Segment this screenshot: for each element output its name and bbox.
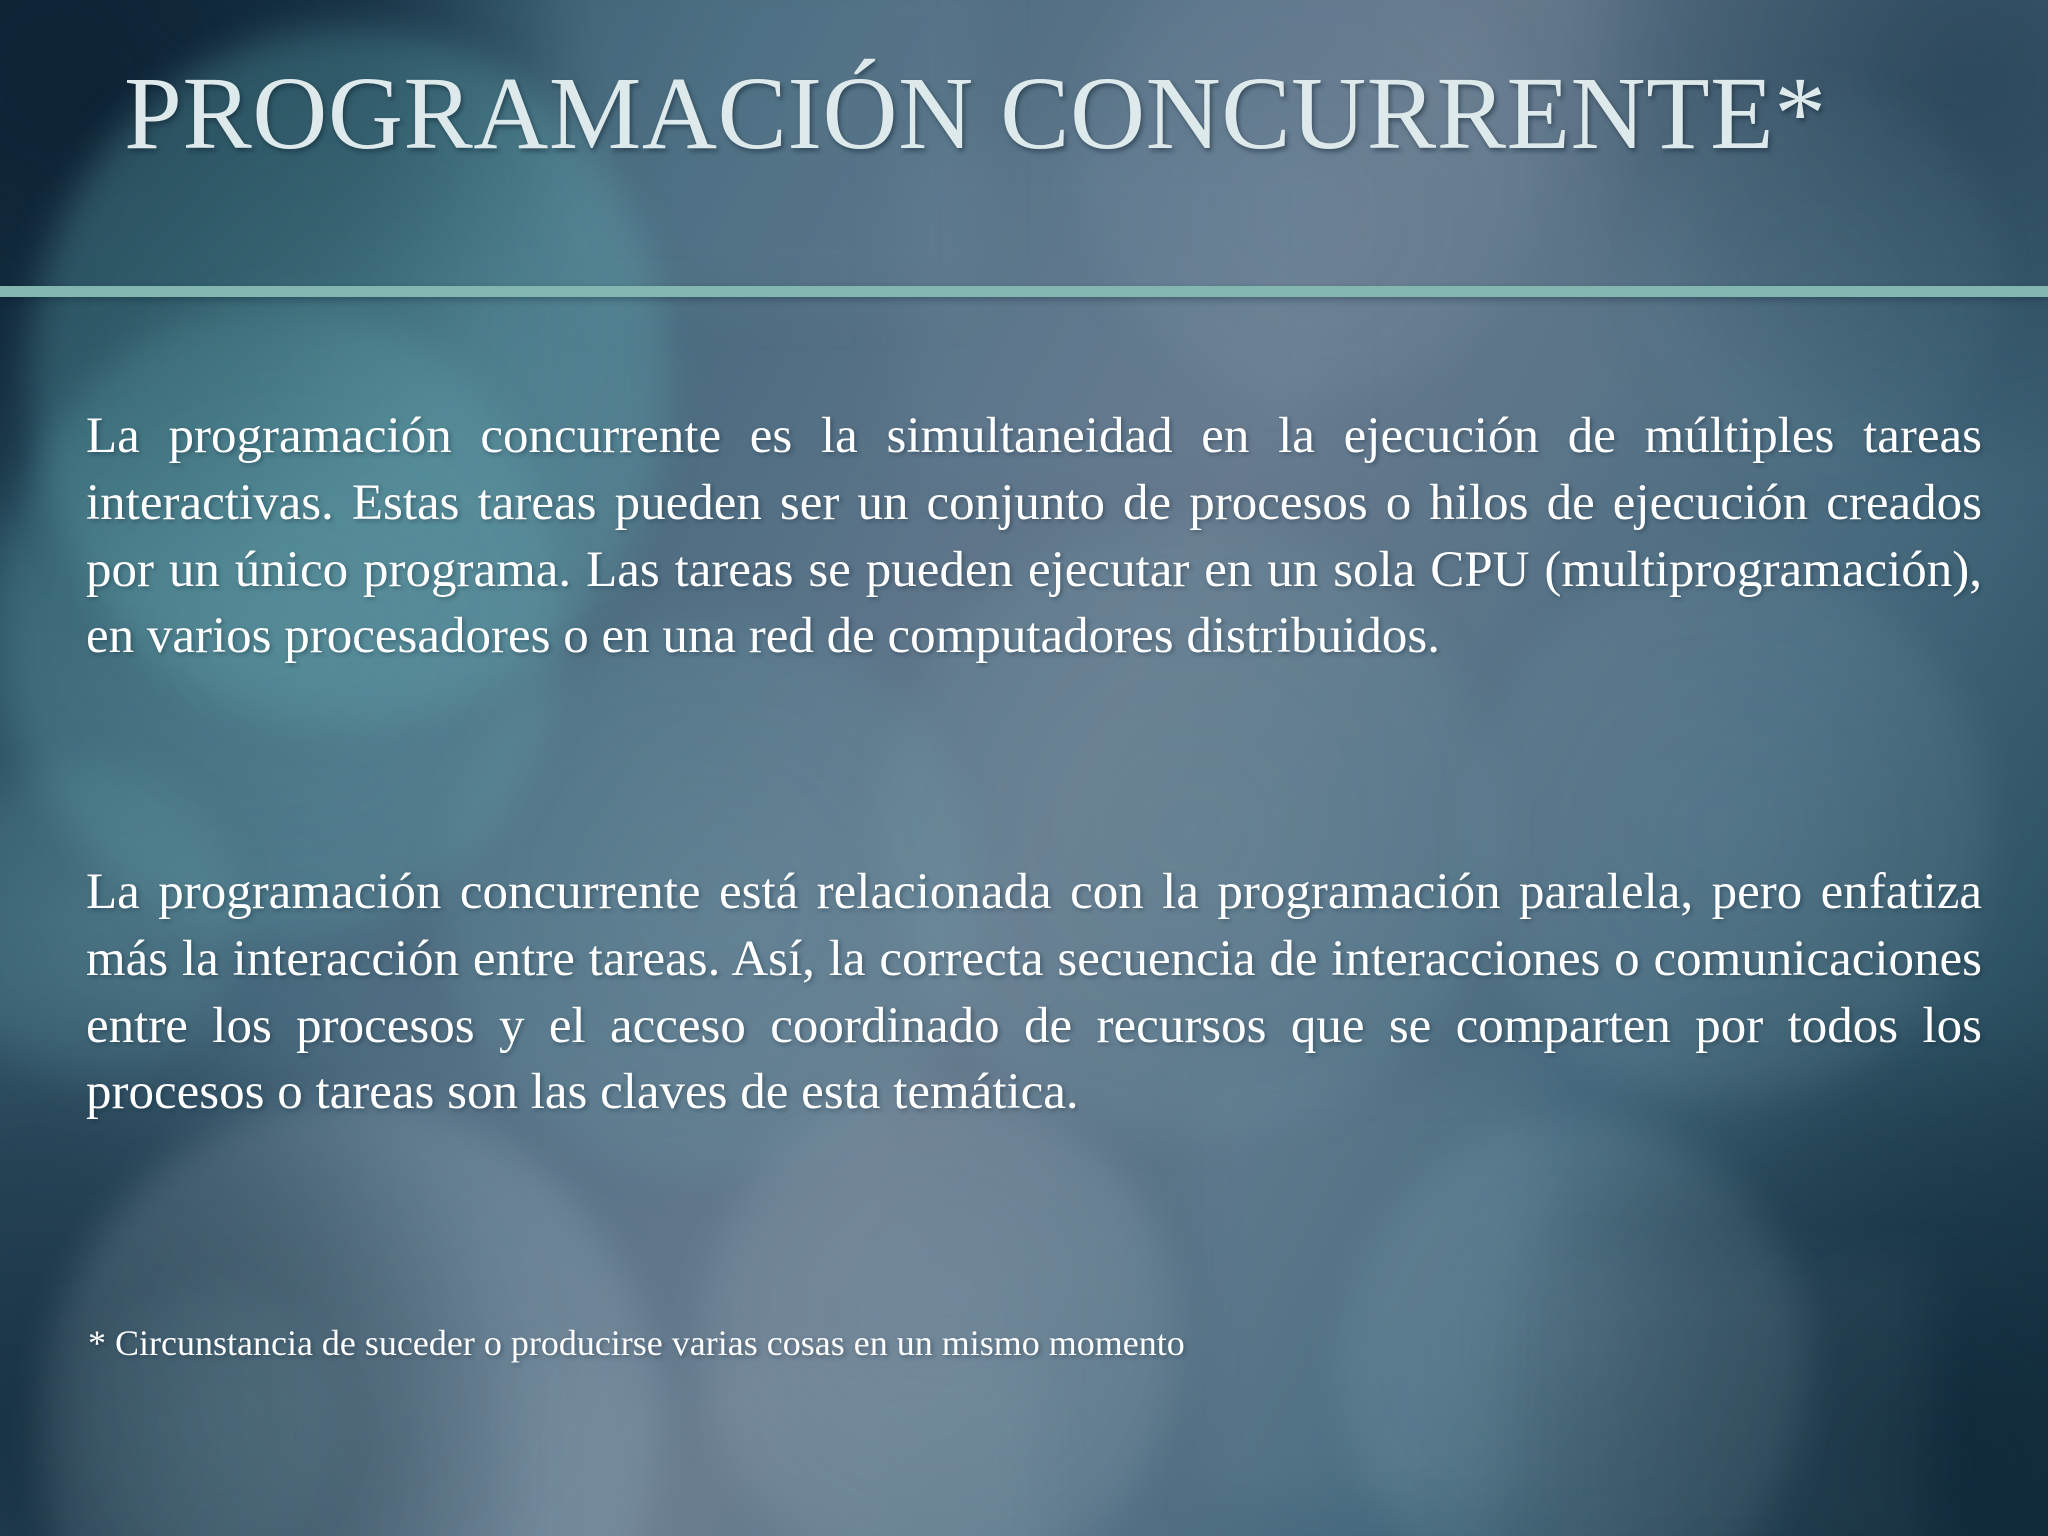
slide-title: PROGRAMACIÓN CONCURRENTE*: [124, 58, 1988, 170]
body-paragraph-1: La programación concurrente es la simult…: [86, 403, 1982, 670]
presentation-slide: PROGRAMACIÓN CONCURRENTE* La programació…: [0, 0, 2048, 1536]
title-divider-rule: [0, 286, 2048, 297]
slide-content: PROGRAMACIÓN CONCURRENTE* La programació…: [0, 0, 2048, 1536]
footnote-text: * Circunstancia de suceder o producirse …: [88, 1320, 1982, 1367]
body-paragraph-2: La programación concurrente está relacio…: [86, 859, 1982, 1126]
